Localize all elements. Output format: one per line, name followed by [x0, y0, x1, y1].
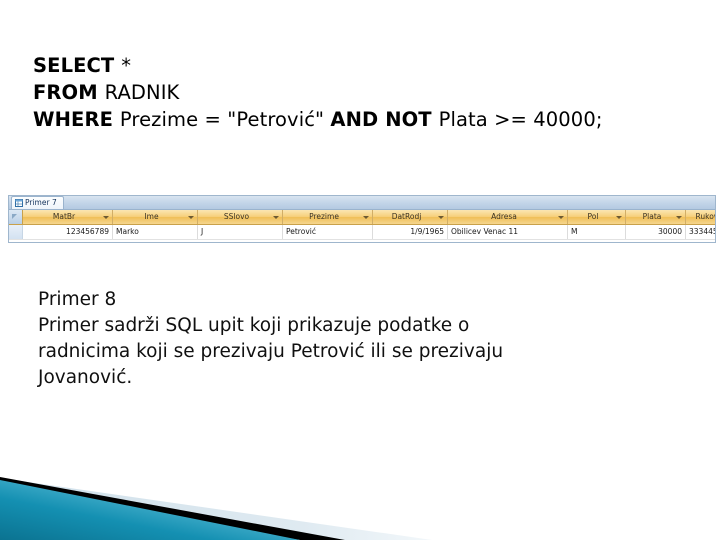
column-header-label: Plata [643, 213, 662, 221]
datasheet-empty-area [9, 240, 715, 243]
column-header-pol[interactable]: Pol [568, 210, 626, 224]
column-header-datrodj[interactable]: DatRodj [373, 210, 448, 224]
sql-keyword: WHERE [33, 108, 120, 131]
document-tab-primer7[interactable]: Primer 7 [11, 196, 64, 209]
chevron-down-icon[interactable] [616, 216, 622, 219]
description-line: Primer 8 [38, 287, 658, 313]
description-line: Primer sadrži SQL upit koji prikazuje po… [38, 313, 658, 339]
sql-statement: SELECT * FROM RADNIK WHERE Prezime = "Pe… [33, 52, 703, 133]
column-header-plata[interactable]: Plata [626, 210, 686, 224]
datasheet-header-row: MatBrImeSSlovoPrezimeDatRodjAdresaPolPla… [9, 210, 715, 225]
datasheet-data-row[interactable]: 123456789MarkoJPetrović1/9/1965Obilicev … [9, 225, 715, 240]
corner-decoration [0, 420, 720, 540]
sql-keyword: SELECT [33, 54, 121, 77]
column-header-sslovo[interactable]: SSlovo [198, 210, 283, 224]
column-header-prezime[interactable]: Prezime [283, 210, 373, 224]
table-cell[interactable]: 30000 [626, 225, 686, 239]
sql-line-where: WHERE Prezime = "Petrović" AND NOT Plata… [33, 106, 703, 133]
chevron-down-icon[interactable] [558, 216, 564, 219]
row-selector[interactable] [9, 225, 23, 239]
sql-line-select: SELECT * [33, 52, 703, 79]
datasheet-icon [15, 199, 23, 207]
sql-literal: Plata >= 40000; [439, 108, 603, 131]
column-header-ime[interactable]: Ime [113, 210, 198, 224]
document-tab-label: Primer 7 [25, 199, 57, 207]
access-datasheet-screenshot: Primer 7 MatBrImeSSlovoPrezimeDatRodjAdr… [8, 195, 716, 243]
sql-literal: Prezime = "Petrović" [120, 108, 331, 131]
table-cell[interactable]: Obilicev Venac 11 [448, 225, 568, 239]
column-header-label: Prezime [309, 213, 339, 221]
chevron-down-icon[interactable] [103, 216, 109, 219]
sql-literal: * [121, 54, 131, 77]
sql-literal: RADNIK [105, 81, 180, 104]
table-cell[interactable]: 1/9/1965 [373, 225, 448, 239]
slide-canvas: SELECT * FROM RADNIK WHERE Prezime = "Pe… [0, 0, 720, 540]
deco-black-wedge [0, 477, 345, 540]
table-cell[interactable]: Marko [113, 225, 198, 239]
select-all-corner[interactable] [9, 210, 23, 224]
column-header-matbr[interactable]: MatBr [23, 210, 113, 224]
column-header-rukovodilac[interactable]: Rukovodilac [686, 210, 716, 224]
sql-keyword: AND NOT [330, 108, 438, 131]
description-line: radnicima koji se prezivaju Petrović ili… [38, 339, 658, 365]
table-cell[interactable]: J [198, 225, 283, 239]
table-cell[interactable]: Petrović [283, 225, 373, 239]
table-cell[interactable]: M [568, 225, 626, 239]
description-line: Jovanović. [38, 365, 658, 391]
sql-line-from: FROM RADNIK [33, 79, 703, 106]
column-header-label: SSlovo [224, 213, 249, 221]
column-header-label: Ime [144, 213, 158, 221]
table-cell[interactable]: 333445555 [686, 225, 716, 239]
column-header-label: Pol [588, 213, 599, 221]
column-header-adresa[interactable]: Adresa [448, 210, 568, 224]
deco-pale-band [0, 478, 432, 540]
table-cell[interactable]: 123456789 [23, 225, 113, 239]
description-text: Primer 8 Primer sadrži SQL upit koji pri… [38, 287, 658, 391]
column-header-label: MatBr [53, 213, 75, 221]
column-header-label: Rukovodilac [696, 213, 716, 221]
chevron-down-icon[interactable] [273, 216, 279, 219]
sql-keyword: FROM [33, 81, 105, 104]
deco-teal-triangle [0, 480, 300, 540]
chevron-down-icon[interactable] [188, 216, 194, 219]
chevron-down-icon[interactable] [363, 216, 369, 219]
chevron-down-icon[interactable] [438, 216, 444, 219]
column-header-label: DatRodj [392, 213, 422, 221]
chevron-down-icon[interactable] [676, 216, 682, 219]
document-tab-bar: Primer 7 [9, 196, 715, 210]
column-header-label: Adresa [491, 213, 517, 221]
